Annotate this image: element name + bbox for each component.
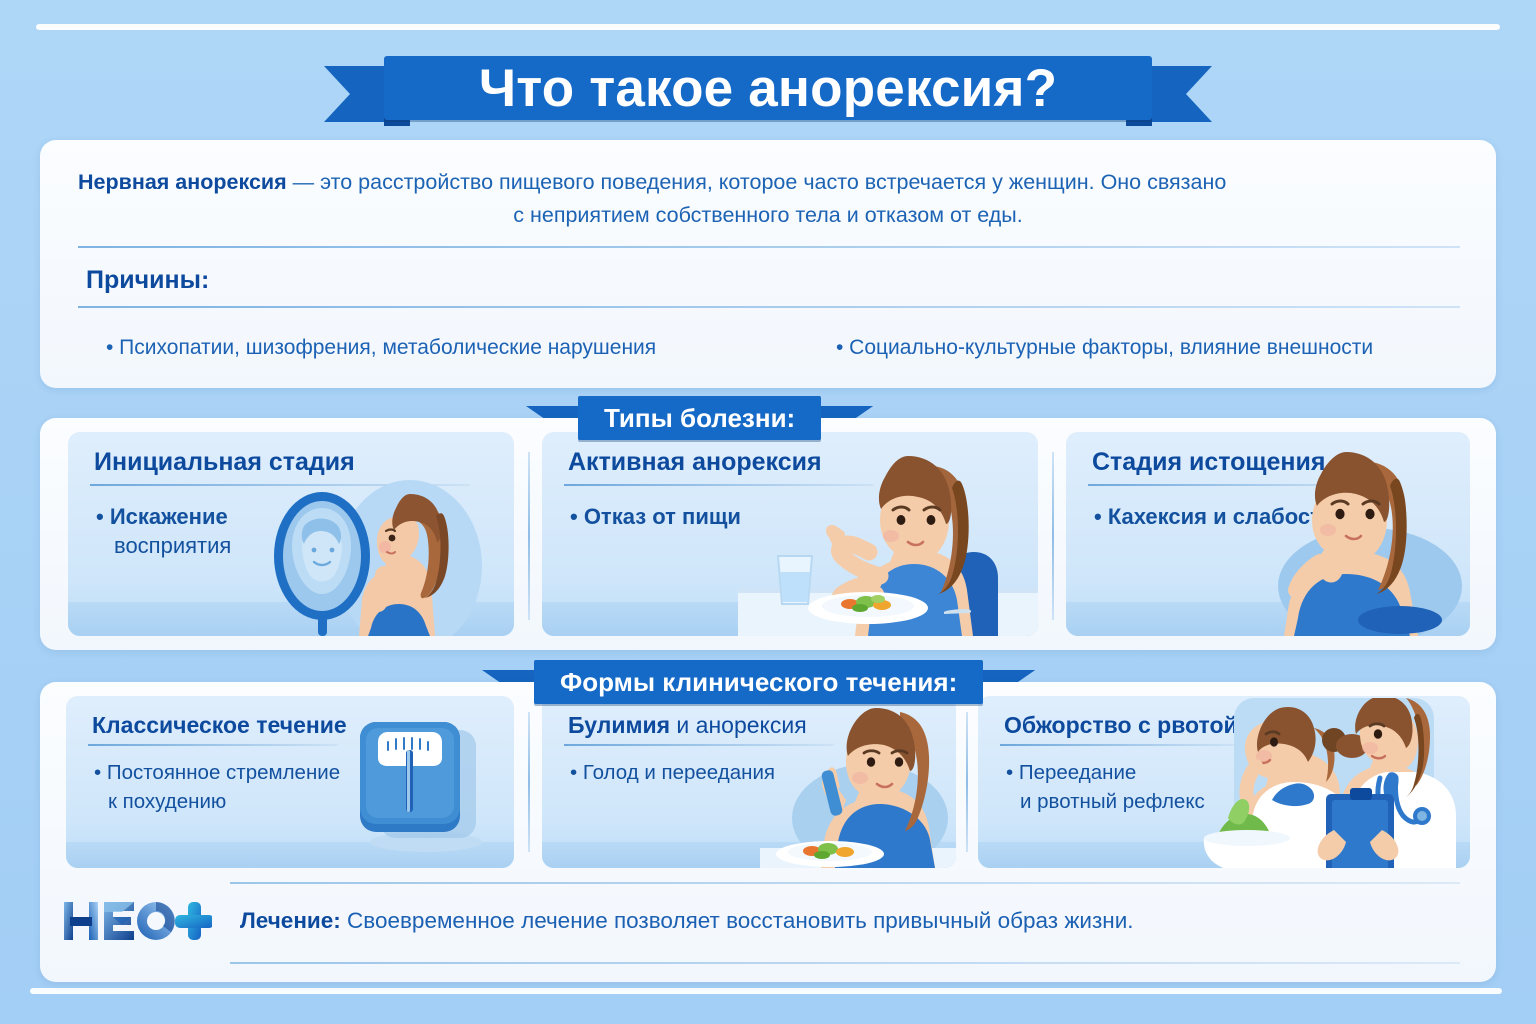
intro-divider-1	[78, 246, 1460, 248]
types-banner-label: Типы болезни:	[578, 396, 821, 440]
type-card-title: Инициальная стадия	[94, 448, 355, 477]
logo-letter-e	[104, 902, 134, 940]
type-card-active: Активная анорексия • Отказ от пищи	[542, 432, 1038, 636]
logo-letter-o	[137, 902, 175, 940]
card-underline	[564, 484, 874, 486]
form-card-binge-vomit: Обжорство с рвотой • Переедание и рвотны…	[978, 696, 1470, 868]
page-title-banner: Что такое анорексия?	[384, 48, 1152, 128]
cause-item-2: • Социально-культурные факторы, влияние …	[836, 336, 1373, 360]
form-card-bulimia: Булимия и анорексия • Голод и переедания	[542, 696, 956, 868]
card-underline	[1088, 484, 1368, 486]
card-bottom-strip	[542, 602, 1038, 636]
form-card-classic: Классическое течение • Постоянное стремл…	[66, 696, 514, 868]
type-card-title: Активная анорексия	[568, 448, 822, 477]
form-card-bullet: • Переедание и рвотный рефлекс	[1006, 758, 1205, 816]
form-card-bullet: • Постоянное стремление к похудению	[94, 758, 340, 816]
type-card-exhaustion: Стадия истощения • Кахексия и слабость	[1066, 432, 1470, 636]
intro-divider-2	[78, 306, 1460, 308]
bathroom-scale-icon	[342, 714, 492, 854]
treatment-text: Лечение: Своевременное лечение позволяет…	[240, 908, 1134, 934]
treatment-label: Лечение:	[240, 908, 341, 933]
logo-plus-cross-icon	[175, 902, 212, 940]
top-divider-line	[36, 24, 1500, 30]
cause-item-1: • Психопатии, шизофрения, метаболические…	[106, 336, 656, 360]
form-card-title: Булимия и анорексия	[568, 712, 807, 739]
card-bottom-strip	[978, 842, 1470, 868]
causes-heading: Причины:	[86, 266, 209, 295]
forms-banner-label: Формы клинического течения:	[534, 660, 983, 704]
card-bottom-strip	[1066, 602, 1470, 636]
type-card-bullet: • Отказ от пищи	[570, 502, 741, 531]
intro-paragraph: Нервная анорексия — это расстройство пищ…	[78, 166, 1458, 232]
footer-divider-bottom	[230, 962, 1460, 964]
type-card-title: Стадия истощения	[1092, 448, 1325, 477]
intro-panel: Нервная анорексия — это расстройство пищ…	[40, 140, 1496, 388]
card-underline	[88, 744, 338, 746]
intro-line1: — это расстройство пищевого поведения, к…	[287, 170, 1227, 194]
type-card-initial: Инициальная стадия • Искажение восприяти…	[68, 432, 514, 636]
form-card-title: Обжорство с рвотой	[1004, 712, 1238, 739]
card-divider-1	[528, 712, 530, 852]
types-banner: Типы болезни:	[578, 396, 821, 440]
types-panel: Инициальная стадия • Искажение восприяти…	[40, 418, 1496, 650]
page-title: Что такое анорексия?	[384, 56, 1152, 120]
form-card-bullet: • Голод и переедания	[570, 758, 775, 787]
card-divider-2	[1052, 452, 1054, 620]
type-card-bullet: • Кахексия и слабость	[1094, 502, 1334, 531]
card-underline	[90, 484, 470, 486]
form-card-title: Классическое течение	[92, 712, 347, 739]
neo-logo	[62, 896, 212, 946]
intro-lead: Нервная анорексия	[78, 170, 287, 194]
card-divider-2	[966, 712, 968, 852]
intro-line2: с неприятием собственного тела и отказом…	[513, 203, 1022, 227]
card-bottom-strip	[66, 842, 514, 868]
card-underline	[564, 744, 834, 746]
bottom-divider-line	[30, 988, 1502, 994]
logo-letter-n	[64, 902, 98, 940]
card-bottom-strip	[542, 842, 956, 868]
footer-divider-top	[230, 882, 1460, 884]
card-underline	[1000, 744, 1236, 746]
card-divider-1	[528, 452, 530, 620]
type-card-bullet: • Искажение восприятия	[96, 502, 231, 560]
forms-banner: Формы клинического течения:	[534, 660, 983, 704]
treatment-body: Своевременное лечение позволяет восстано…	[341, 908, 1134, 933]
card-bottom-strip	[68, 602, 514, 636]
